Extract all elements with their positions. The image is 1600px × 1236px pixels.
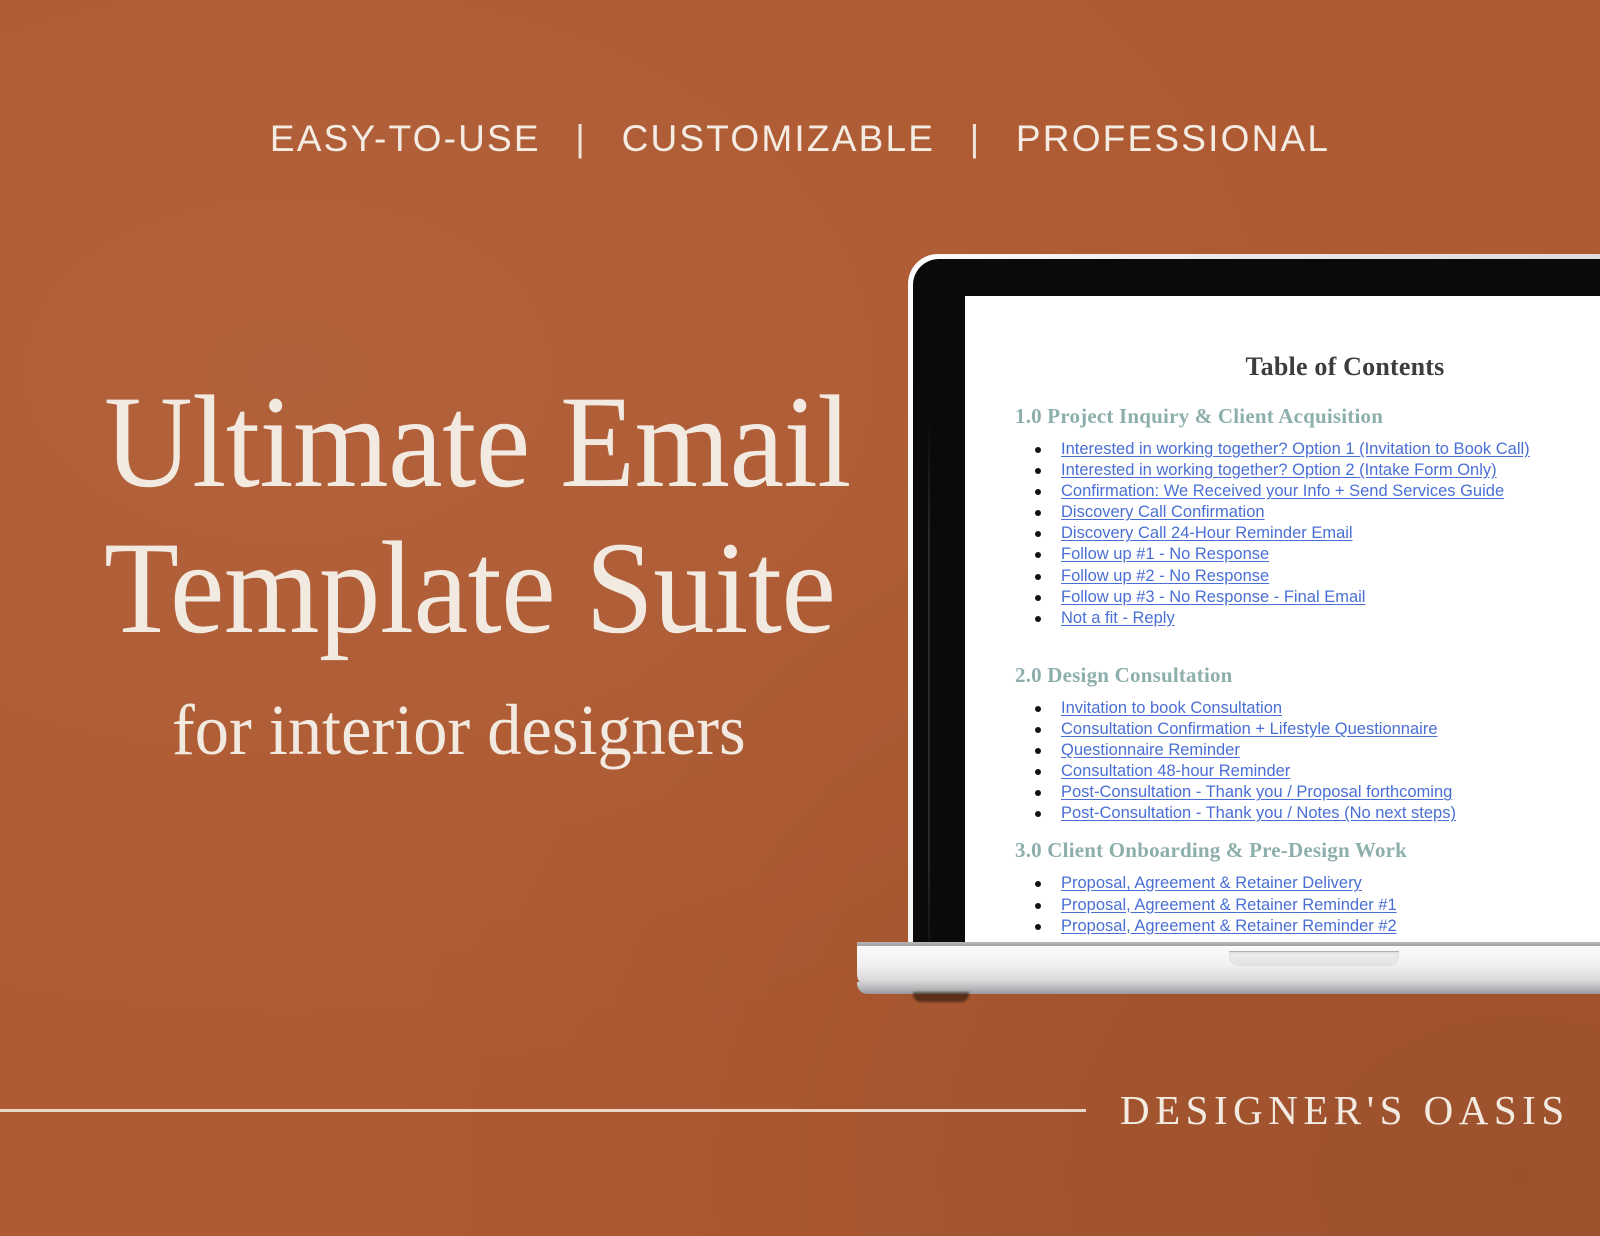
- tagline-item-2: CUSTOMIZABLE: [622, 118, 936, 159]
- list-item[interactable]: Follow up #3 - No Response - Final Email: [1061, 587, 1600, 608]
- headline-line-1: Ultimate Email: [104, 378, 885, 506]
- headline-subtitle: for interior designers: [172, 694, 746, 766]
- laptop-lid: Table of Contents 1.0 Project Inquiry & …: [908, 254, 1600, 946]
- toc-section-heading: 3.0 Client Onboarding & Pre-Design Work: [1015, 838, 1600, 863]
- laptop-mockup: Table of Contents 1.0 Project Inquiry & …: [908, 254, 1600, 994]
- list-item[interactable]: Proposal, Agreement & Retainer Reminder …: [1061, 895, 1600, 916]
- tagline-bar: EASY-TO-USE | CUSTOMIZABLE | PROFESSIONA…: [0, 118, 1600, 160]
- tagline-item-3: PROFESSIONAL: [1016, 118, 1330, 159]
- laptop-base: [857, 942, 1600, 1000]
- toc-section-heading: 2.0 Design Consultation: [1015, 663, 1600, 688]
- headline-block: Ultimate Email Template Suite: [104, 378, 944, 652]
- document-title: Table of Contents: [1005, 352, 1600, 382]
- tagline-separator-2: |: [948, 118, 1004, 160]
- headline-line-2: Template Suite: [104, 524, 885, 652]
- list-item[interactable]: Post-Consultation - Thank you / Proposal…: [1061, 782, 1600, 803]
- list-item[interactable]: Invitation to book Consultation: [1061, 698, 1600, 719]
- list-item[interactable]: Confirmation: We Received your Info + Se…: [1061, 481, 1600, 502]
- tagline-separator-1: |: [553, 118, 609, 160]
- list-item[interactable]: Proposal, Agreement & Retainer Delivery: [1061, 873, 1600, 894]
- list-item[interactable]: Follow up #1 - No Response: [1061, 544, 1600, 565]
- toc-link-list: Proposal, Agreement & Retainer Delivery …: [1061, 873, 1600, 936]
- list-item[interactable]: Consultation Confirmation + Lifestyle Qu…: [1061, 719, 1600, 740]
- list-item[interactable]: Post-Consultation - Thank you / Notes (N…: [1061, 803, 1600, 824]
- bezel-hairline: [928, 419, 930, 946]
- laptop-base-notch: [1229, 952, 1399, 966]
- list-item[interactable]: Not a fit - Reply: [1061, 608, 1600, 629]
- footer-divider: [0, 1109, 1086, 1112]
- list-item[interactable]: Questionnaire Reminder: [1061, 740, 1600, 761]
- toc-section-2: 2.0 Design Consultation Invitation to bo…: [1005, 663, 1600, 825]
- list-item[interactable]: Consultation 48-hour Reminder: [1061, 761, 1600, 782]
- list-item[interactable]: Interested in working together? Option 1…: [1061, 439, 1600, 460]
- list-item[interactable]: Discovery Call 24-Hour Reminder Email: [1061, 523, 1600, 544]
- document-page: Table of Contents 1.0 Project Inquiry & …: [965, 296, 1600, 939]
- tagline-item-1: EASY-TO-USE: [270, 118, 541, 159]
- toc-link-list: Invitation to book Consultation Consulta…: [1061, 698, 1600, 825]
- toc-section-3: 3.0 Client Onboarding & Pre-Design Work …: [1005, 838, 1600, 936]
- list-item[interactable]: Follow up #2 - No Response: [1061, 566, 1600, 587]
- toc-link-list: Interested in working together? Option 1…: [1061, 439, 1600, 629]
- list-item[interactable]: Interested in working together? Option 2…: [1061, 460, 1600, 481]
- list-item[interactable]: Discovery Call Confirmation: [1061, 502, 1600, 523]
- list-item[interactable]: Proposal, Agreement & Retainer Reminder …: [1061, 916, 1600, 937]
- brand-name: DESIGNER'S OASIS: [1120, 1086, 1550, 1134]
- laptop-foot: [913, 992, 969, 1002]
- laptop-screen: Table of Contents 1.0 Project Inquiry & …: [965, 296, 1600, 944]
- toc-section-heading: 1.0 Project Inquiry & Client Acquisition: [1015, 404, 1600, 429]
- toc-section-1: 1.0 Project Inquiry & Client Acquisition…: [1005, 404, 1600, 629]
